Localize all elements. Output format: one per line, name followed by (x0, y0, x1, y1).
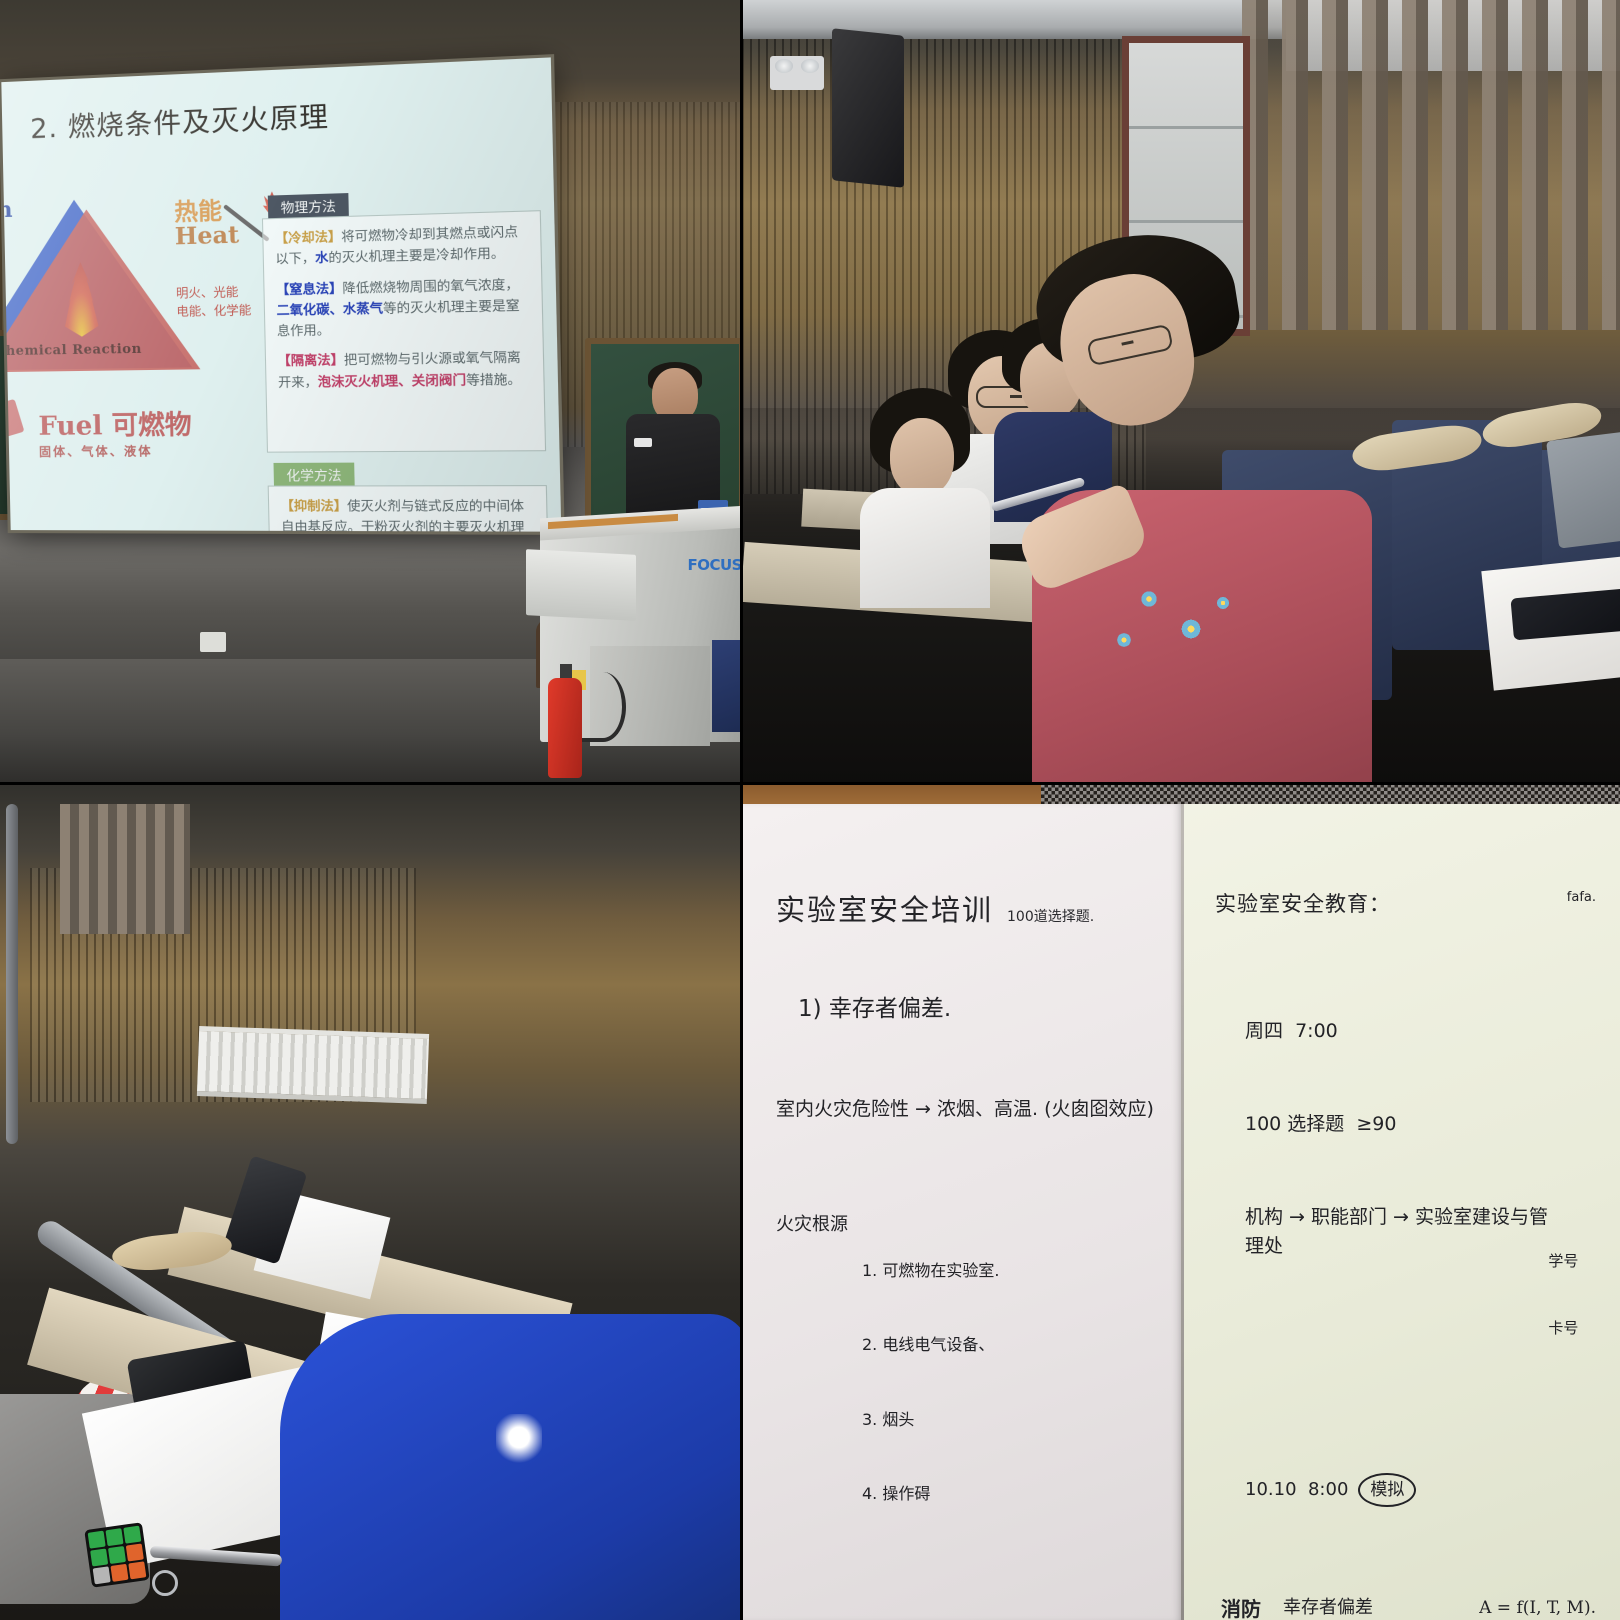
panel-lecture-slide: 2. 燃烧条件及灭火原理 氧化剂 Oxygen Chemical Reactio… (0, 0, 742, 784)
slide-title: 2. 燃烧条件及灭火原理 (30, 94, 330, 146)
notes-right-org-side-0: 学号 (1548, 1250, 1596, 1273)
notes-right-schedule-3-prefix: 10.10 8:00 (1245, 1476, 1348, 1504)
label-heat: 热能 Heat (174, 198, 250, 250)
flower-embroidery-icon (1180, 618, 1202, 640)
physical-item-2-rest: 等措施。 (466, 371, 521, 387)
wall-speaker (832, 28, 904, 188)
physical-method-box: 【冷却法】将可燃物冷却到其燃点或闪点以下，水的灭火机理主要是冷却作用。 【窒息法… (262, 210, 546, 453)
physical-item-1-highlight: 二氧化碳、水蒸气 (276, 300, 383, 318)
panel-handwritten-notes: 实验室安全培训 100道选择题. 1) 幸存者偏差. 室内火灾危险性 → 浓烟、… (742, 784, 1620, 1620)
hoodie-logo-icon (496, 1414, 542, 1466)
notes-right-org-chain: 机构 → 职能部门 → 实验室建设与管理处 (1245, 1203, 1548, 1262)
label-heat-en: Heat (175, 223, 250, 250)
label-fuel-en: Fuel (38, 411, 103, 442)
chemical-method-box: 【抑制法】使灭火剂与链式反应的中间体自由基反应。干粉灭火剂的主要灭火机理就是化学… (268, 485, 549, 532)
notes-right-schedule-1: 周四 7:00 (1245, 1017, 1596, 1046)
notes-right-org-side-1: 卡号 (1548, 1317, 1596, 1340)
collage-seam-horizontal (0, 782, 1620, 785)
notes-right-side-mark: fafa. (1567, 888, 1596, 908)
notes-left-source-0: 1. 可燃物在实验室. (862, 1259, 999, 1284)
heat-sub-1: 明火、光能 (176, 283, 251, 303)
extinguisher-hose (580, 672, 626, 742)
chemical-method-tab: 化学方法 (273, 463, 354, 486)
notes-right-equation: A = f(I, T, M). (1479, 1594, 1596, 1620)
notes-left-source-label: 火灾根源 (776, 1211, 848, 1550)
notes-left-source-2: 3. 烟头 (862, 1408, 999, 1433)
notes-page-left: 实验室安全培训 100道选择题. 1) 幸存者偏差. 室内火灾危险性 → 浓烟、… (742, 804, 1181, 1620)
panel-students-side (0, 784, 742, 1620)
notes-left-indoor-risk: 室内火灾危险性 → 浓烟、高温. (火囱囵效应) (776, 1095, 1157, 1124)
projection-screen: 2. 燃烧条件及灭火原理 氧化剂 Oxygen Chemical Reactio… (1, 57, 561, 531)
notes-right-fire-label: 消防 (1221, 1594, 1261, 1620)
photo-collage: 2. 燃烧条件及灭火原理 氧化剂 Oxygen Chemical Reactio… (0, 0, 1620, 1620)
notes-left-sources-block: 火灾根源 1. 可燃物在实验室. 2. 电线电气设备、 3. 烟头 4. 操作碍 (776, 1209, 1157, 1556)
physical-item-2-tag: 【隔离法】 (277, 352, 344, 368)
flower-embroidery-icon (1116, 632, 1132, 648)
notes-right-schedule-2: 100 选择题 ≥90 (1245, 1110, 1596, 1139)
keyring-icon (152, 1570, 178, 1596)
fire-extinguisher (548, 678, 582, 778)
notebook-gutter (1181, 804, 1184, 1620)
monitor-panel (712, 640, 742, 732)
physical-item-0-highlight: 水 (315, 250, 329, 266)
notes-page-right: 实验室安全教育： fafa. 周四 7:00 100 选择题 ≥90 机构 → … (1181, 804, 1620, 1620)
flower-embroidery-icon (1216, 596, 1230, 610)
notes-left-title: 实验室安全培训 (776, 888, 993, 933)
chemical-item-0-tag: 【抑制法】 (281, 498, 348, 514)
notes-right-fire-text: 幸存者偏差 (1283, 1594, 1373, 1620)
emergency-light-icon (770, 56, 824, 90)
panel-students-front (742, 0, 1620, 784)
notes-left-source-1: 2. 电线电气设备、 (862, 1333, 999, 1358)
student-head (890, 418, 954, 496)
student-background-2 (870, 388, 990, 588)
door-pane-mid (1129, 137, 1243, 223)
student-pink-hoodie (1032, 240, 1372, 784)
heat-sub-2: 电能、化学能 (176, 301, 251, 321)
physical-item-1-text: 降低燃烧物周围的氧气浓度， (342, 276, 519, 296)
label-fuel: Fuel 可燃物 固体、气体、液体 (38, 404, 192, 460)
heat-sublabels: 明火、光能 电能、化学能 (176, 283, 252, 321)
notes-left-bias: 1) 幸存者偏差. (798, 992, 1157, 1028)
physical-item-1-tag: 【窒息法】 (276, 280, 343, 297)
label-fuel-cn: 可燃物 (111, 410, 192, 441)
physical-method-tab: 物理方法 (268, 193, 349, 218)
heating-pipe (6, 804, 18, 1144)
notes-right-schedule-3-circled: 模拟 (1358, 1473, 1416, 1507)
lectern-brand-logo: FOCUS (688, 556, 743, 574)
flower-embroidery-icon (1140, 590, 1158, 608)
physical-item-0: 【冷却法】将可燃物冷却到其燃点或闪点以下，水的灭火机理主要是冷却作用。 (275, 221, 529, 270)
radiator (197, 1026, 429, 1104)
physical-item-1: 【窒息法】降低燃烧物周围的氧气浓度，二氧化碳、水蒸气等的灭火机理主要是窒息作用。 (276, 273, 530, 341)
physical-item-2-highlight: 泡沫灭火机理、关闭阀门 (318, 371, 467, 388)
rubiks-cube-keychain (84, 1522, 150, 1588)
collage-seam-vertical (740, 0, 743, 1620)
label-fuel-sub: 固体、气体、液体 (39, 442, 193, 460)
lectern-drawer (526, 549, 636, 621)
physical-method-text: 【冷却法】将可燃物冷却到其燃点或闪点以下，水的灭火机理主要是冷却作用。 【窒息法… (263, 211, 544, 411)
label-chemical-reaction: Chemical Reaction (1, 342, 142, 359)
presenter-sleeve-badge (634, 438, 652, 447)
door-pane-top (1129, 43, 1243, 129)
student-shirt (860, 488, 990, 608)
chemical-method-text: 【抑制法】使灭火剂与链式反应的中间体自由基反应。干粉灭火剂的主要灭火机理就是化学… (269, 486, 548, 532)
notes-left-source-3: 4. 操作碍 (862, 1482, 999, 1507)
notes-left-badge: 100道选择题. (1007, 907, 1094, 929)
notes-right-title: 实验室安全教育： (1215, 888, 1391, 921)
window-curtain (60, 804, 190, 934)
physical-item-2: 【隔离法】把可燃物与引火源或氧气隔离开来，泡沫灭火机理、关闭阀门等措施。 (277, 347, 531, 393)
wall-socket (200, 632, 226, 652)
physical-item-0-tag: 【冷却法】 (275, 228, 342, 245)
chemical-item-0: 【抑制法】使灭火剂与链式反应的中间体自由基反应。干粉灭火剂的主要灭火机理就是化学… (281, 496, 536, 532)
student-blue-hoodie (280, 1314, 742, 1620)
physical-item-0-rest: 的灭火机理主要是冷却作用。 (328, 245, 505, 265)
